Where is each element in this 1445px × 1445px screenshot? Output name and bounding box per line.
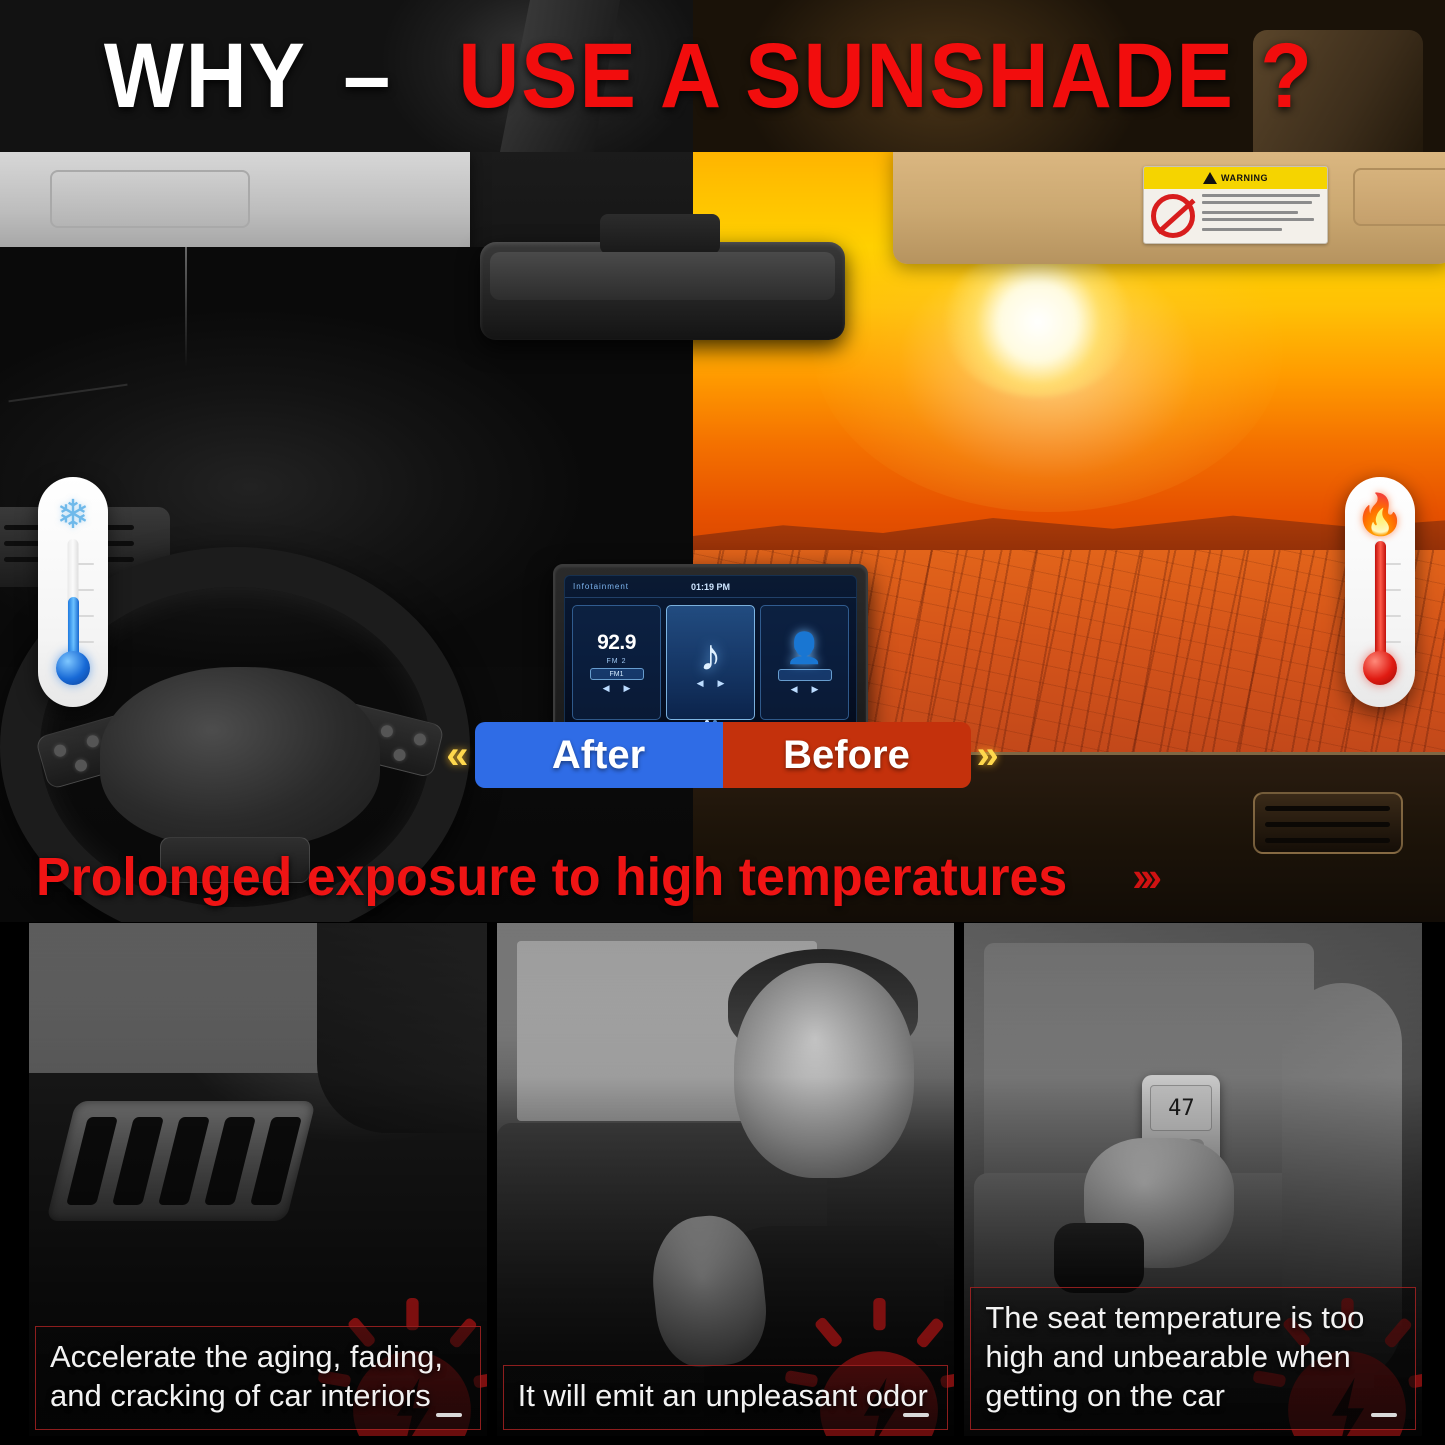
phone-tile[interactable]: 👤 ◀ ▶ (760, 605, 849, 720)
card-caption: Accelerate the aging, fading, and cracki… (35, 1326, 481, 1430)
infotainment-screen[interactable]: Infotainment 01:19 PM 92.9 FM 2 FM1 ◀ ▶ (564, 575, 857, 728)
hot-thermometer-bulb (1363, 651, 1397, 685)
infotainment-brand: Infotainment (573, 582, 629, 591)
radio-preset[interactable]: FM1 (590, 668, 644, 680)
before-after-hero: WARNING (0, 152, 1445, 922)
visor-slot-left (50, 170, 250, 228)
infotainment-head-unit[interactable]: Infotainment 01:19 PM 92.9 FM 2 FM1 ◀ ▶ (553, 564, 868, 739)
media-prev-icon[interactable]: ◀ (697, 678, 704, 689)
hot-thermometer-fill (1375, 541, 1386, 659)
infotainment-clock: 01:19 PM (691, 582, 730, 592)
radio-frequency: 92.9 (597, 631, 636, 655)
visor-slot-right (1353, 168, 1445, 226)
page-title: WHY – USE A SUNSHADE ? (0, 0, 1445, 152)
infotainment-status-bar: Infotainment 01:19 PM (565, 576, 856, 598)
flame-icon: 🔥 (1355, 495, 1405, 535)
subheadline-chevrons-icon: ››› (1132, 853, 1156, 901)
radio-next-icon[interactable]: ▶ (624, 683, 631, 694)
sun-disc (943, 247, 1133, 397)
caption-dash (436, 1413, 462, 1417)
consequence-card: It will emit an unpleasant odor (496, 922, 956, 1437)
sun-visor-right: WARNING (893, 152, 1445, 264)
after-badge[interactable]: After (475, 722, 723, 788)
caption-dash (1371, 1413, 1397, 1417)
media-controls[interactable]: ◀ ▶ (697, 678, 725, 689)
poster-header: WHY – USE A SUNSHADE ? (0, 0, 1445, 152)
card-caption-text: The seat temperature is too high and unb… (985, 1298, 1401, 1415)
consequence-card: 47 (963, 922, 1423, 1437)
music-note-icon: ♪ (700, 636, 722, 676)
contact-pill[interactable] (778, 669, 832, 681)
infotainment-tiles: 92.9 FM 2 FM1 ◀ ▶ ♪ ◀ ▶ (565, 600, 856, 725)
before-after-badges: « After Before » (0, 720, 1445, 790)
warning-label-word: WARNING (1221, 173, 1268, 183)
mirror-glass (490, 252, 835, 300)
subheadline: Prolonged exposure to high temperatures … (0, 838, 1445, 916)
title-dash: – (344, 30, 418, 122)
person-icon: 👤 (786, 631, 823, 666)
hot-thermometer: 🔥 (1345, 477, 1415, 707)
snowflake-icon: ❄ (56, 495, 90, 535)
mirror-stem (600, 214, 720, 254)
warning-label-header: WARNING (1144, 167, 1327, 189)
sunshade-seam (8, 384, 127, 403)
hot-thermometer-stem (1375, 539, 1386, 659)
phone-prev-icon[interactable]: ◀ (791, 684, 798, 695)
card-caption-text: It will emit an unpleasant odor (518, 1376, 934, 1415)
consequence-card: Accelerate the aging, fading, and cracki… (28, 922, 488, 1437)
cold-thermometer-fill (68, 597, 79, 659)
radio-band: FM 2 (607, 658, 627, 665)
no-child-seat-icon (1151, 194, 1195, 238)
radio-controls[interactable]: ◀ ▶ (603, 683, 631, 694)
title-use-a-sunshade: USE A SUNSHADE ? (458, 30, 1314, 122)
card-caption: It will emit an unpleasant odor (503, 1365, 949, 1430)
card-caption-text: Accelerate the aging, fading, and cracki… (50, 1337, 466, 1415)
radio-prev-icon[interactable]: ◀ (603, 683, 610, 694)
caption-dash (903, 1413, 929, 1417)
rearview-mirror (480, 242, 845, 340)
title-why: WHY (104, 30, 331, 122)
radio-tile[interactable]: 92.9 FM 2 FM1 ◀ ▶ (572, 605, 661, 720)
mirror-cable (185, 247, 187, 367)
chevron-right-icon: » (977, 735, 999, 775)
media-next-icon[interactable]: ▶ (718, 678, 725, 689)
before-badge[interactable]: Before (723, 722, 971, 788)
card-caption: The seat temperature is too high and unb… (970, 1287, 1416, 1430)
subheadline-text: Prolonged exposure to high temperatures (36, 846, 1067, 908)
media-tile[interactable]: ♪ ◀ ▶ (666, 605, 755, 720)
airbag-warning-label: WARNING (1143, 166, 1328, 244)
cold-thermometer: ❄ (38, 477, 108, 707)
consequence-cards: Accelerate the aging, fading, and cracki… (0, 916, 1445, 1445)
chevron-left-icon: « (446, 735, 468, 775)
cold-thermometer-stem (68, 539, 79, 659)
phone-next-icon[interactable]: ▶ (812, 684, 819, 695)
warning-label-text (1202, 194, 1322, 235)
phone-controls[interactable]: ◀ ▶ (791, 684, 819, 695)
sunshade-marketing-poster: WHY – USE A SUNSHADE ? (0, 0, 1445, 1445)
warning-triangle-icon (1203, 172, 1217, 184)
cold-thermometer-bulb (56, 651, 90, 685)
